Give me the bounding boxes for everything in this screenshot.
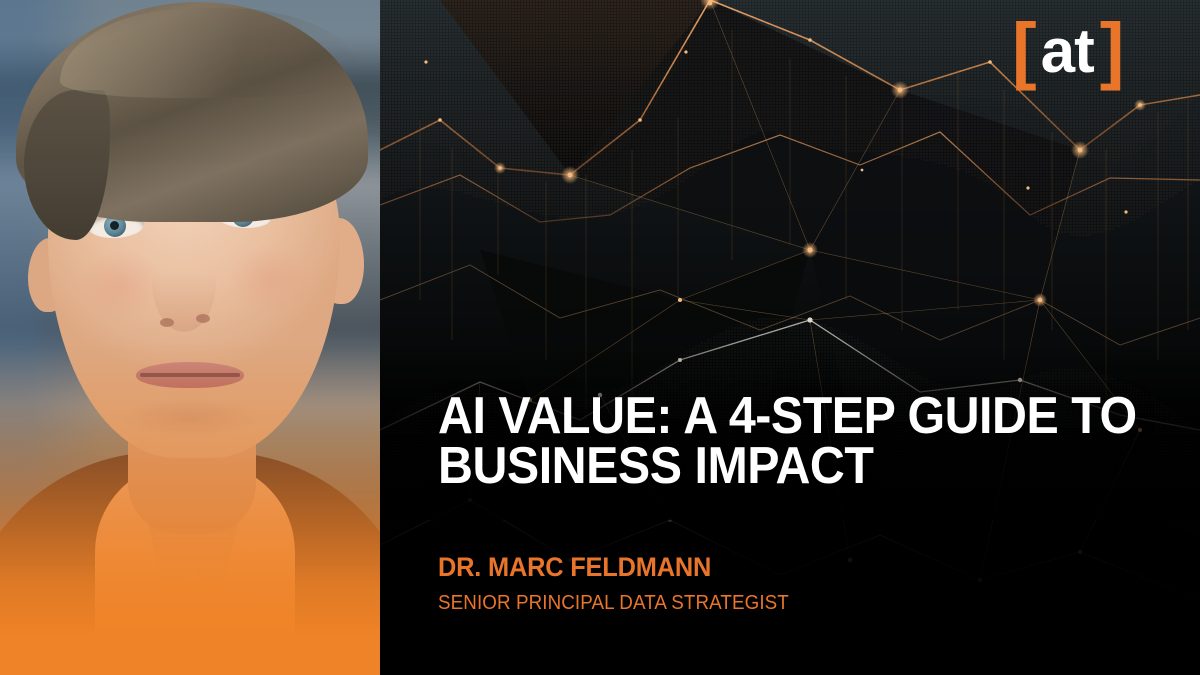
- brand-logo[interactable]: [ at ]: [1012, 14, 1122, 86]
- title-block: AI VALUE: A 4-STEP GUIDE TO BUSINESS IMP…: [438, 392, 1168, 492]
- speaker-name: DR. MARC FELDMANN: [438, 552, 789, 583]
- logo-right-bracket: ]: [1100, 13, 1123, 87]
- speaker-role: SENIOR PRINCIPAL DATA STRATEGIST: [438, 592, 789, 615]
- logo-at-text: at: [1041, 21, 1094, 83]
- logo-left-bracket: [: [1012, 13, 1035, 87]
- title-line-1: AI VALUE: A 4-STEP GUIDE TO: [438, 392, 1117, 442]
- title-line-2: BUSINESS IMPACT: [438, 442, 1117, 492]
- title-card: [ at ] AI VALUE: A 4-STEP GUIDE TO BUSIN…: [0, 0, 1200, 675]
- page-title: AI VALUE: A 4-STEP GUIDE TO BUSINESS IMP…: [438, 392, 1117, 492]
- speaker-portrait: [0, 0, 380, 675]
- speaker-block: DR. MARC FELDMANN SENIOR PRINCIPAL DATA …: [438, 552, 811, 615]
- portrait-orange-gradient: [0, 345, 380, 675]
